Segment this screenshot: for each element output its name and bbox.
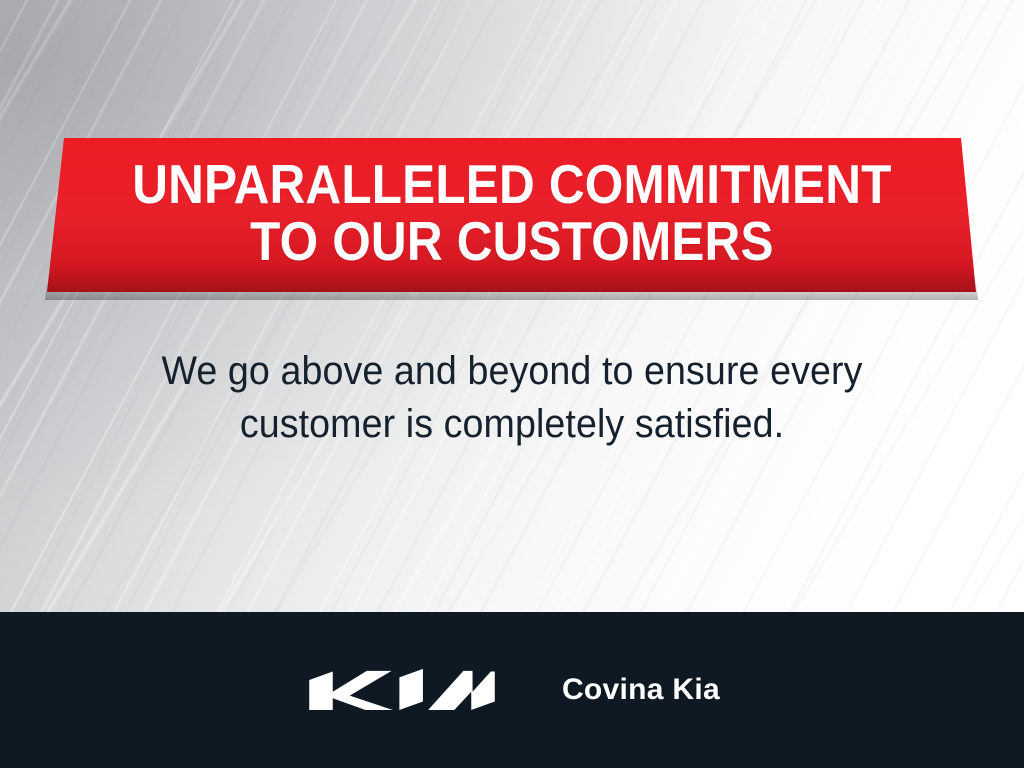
dealer-name: Covina Kia: [562, 673, 720, 707]
promo-slide: UNPARALLELED COMMITMENT TO OUR CUSTOMERS…: [0, 0, 1024, 768]
headline-banner: UNPARALLELED COMMITMENT TO OUR CUSTOMERS: [0, 138, 1024, 292]
headline: UNPARALLELED COMMITMENT TO OUR CUSTOMERS: [132, 156, 891, 269]
kia-logo: [304, 663, 500, 718]
headline-line-1: UNPARALLELED COMMITMENT: [132, 156, 891, 213]
subtitle: We go above and beyond to ensure every c…: [155, 345, 869, 451]
subtitle-line-1: We go above and beyond to ensure every: [161, 349, 862, 393]
footer-bar: Covina Kia: [0, 612, 1024, 768]
headline-line-2: TO OUR CUSTOMERS: [132, 213, 891, 270]
subtitle-line-2: customer is completely satisfied.: [240, 402, 784, 446]
subtitle-block: We go above and beyond to ensure every c…: [0, 345, 1024, 451]
